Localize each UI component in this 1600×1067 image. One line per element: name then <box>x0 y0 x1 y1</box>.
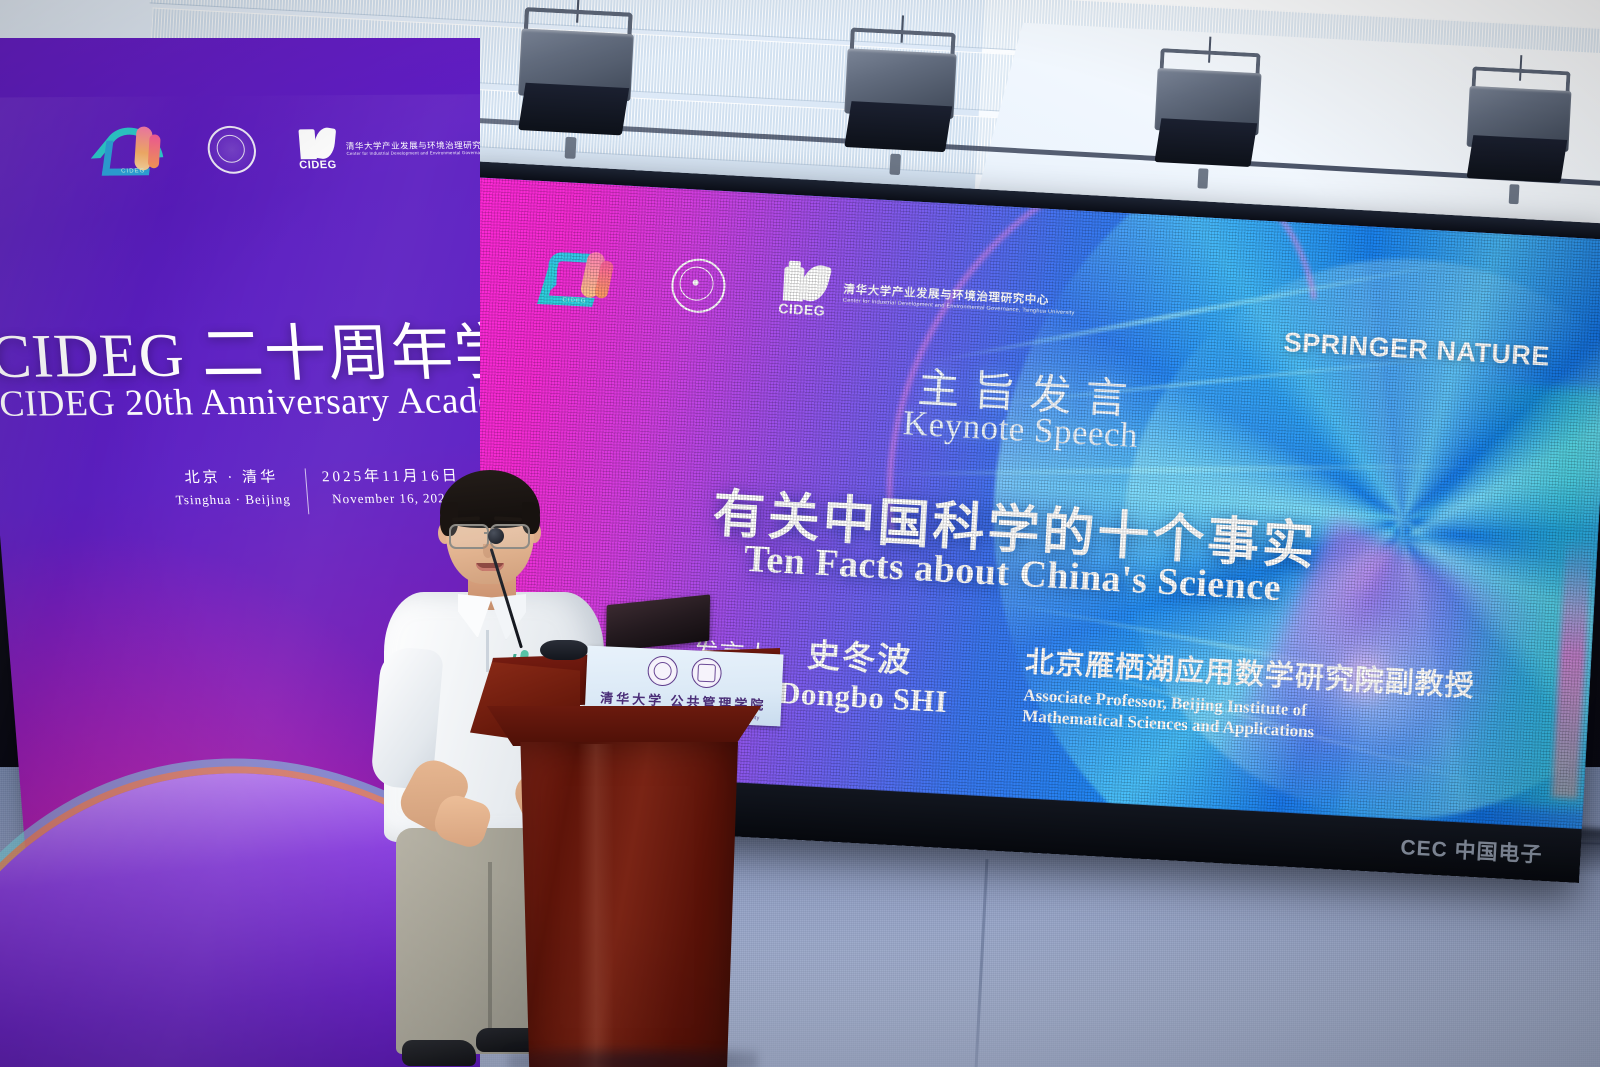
anniversary-20-sublabel: CIDEG <box>562 297 586 304</box>
light-safety-clip <box>1509 184 1520 204</box>
banner-location: 北京 · 清华 Tsinghua · Beijing <box>173 467 291 510</box>
light-lens <box>1467 135 1568 183</box>
cideg-name-en: Center for Industrial Development and En… <box>346 150 480 156</box>
affiliation-block: 北京雁栖湖应用数学研究院副教授 Associate Professor, Bei… <box>1022 638 1476 751</box>
light-safety-clip <box>1197 168 1208 188</box>
lectern: 清华大学 公共管理学院 School of Public Policy & Ma… <box>468 648 780 1067</box>
lectern-floor-shadow <box>508 1048 758 1067</box>
nameplate-seal-row <box>586 653 783 692</box>
anniversary-20-icon: CIDEG <box>97 124 167 176</box>
anniversary-20-icon: CIDEG <box>540 249 617 309</box>
light-lens <box>1154 118 1257 167</box>
banner-logo-row: CIDEG CIDEG 清华大学产业发展与环境治理研究中心 Center for… <box>97 122 480 177</box>
banner-location-cn: 北京 · 清华 <box>173 467 290 490</box>
lectern-column <box>516 742 738 1067</box>
lectern-apron <box>478 706 770 746</box>
anniversary-20-sublabel: CIDEG <box>121 168 146 174</box>
tsinghua-seal-icon <box>670 257 727 314</box>
conference-stage-photo: CIDEG CIDEG 清华大学产业发展与环境治理研究中心 Center for… <box>0 0 1600 1067</box>
cideg-wordmark: CIDEG <box>299 159 337 171</box>
light-safety-clip <box>565 137 577 159</box>
mouth <box>476 563 504 571</box>
sppm-seal-icon <box>691 657 722 688</box>
banner-location-en: Tsinghua · Beijing <box>175 489 291 509</box>
cideg-wordmark: CIDEG <box>778 300 826 319</box>
cideg-logo: CIDEG 清华大学产业发展与环境治理研究中心 Center for Indus… <box>296 126 480 171</box>
light-lens <box>518 83 629 136</box>
cec-wordmark-cn: 中国电子 <box>1454 839 1543 867</box>
microphone-base <box>540 640 588 660</box>
cideg-logo: CIDEG 清华大学产业发展与环境治理研究中心 Center for Indus… <box>780 264 1076 332</box>
light-safety-clip <box>889 154 901 176</box>
microphone-capsule <box>488 528 504 544</box>
banner-meta-divider <box>304 468 309 514</box>
cideg-mark-icon: CIDEG <box>296 127 340 171</box>
nature-word: NATURE <box>1436 335 1551 371</box>
springer-nature-logo: SPRINGER NATURE <box>1283 327 1551 373</box>
cec-brand-logo: CEC 中国电子 <box>1400 831 1544 869</box>
left-shoe <box>402 1040 476 1066</box>
springer-word: SPRINGER <box>1283 327 1429 365</box>
tsinghua-seal-icon <box>647 655 678 686</box>
slide-logo-row: CIDEG CIDEG 清华大学产业发展与环境治理研究中心 Center for… <box>540 249 1076 334</box>
speaker-name-cn: 史冬波 <box>806 628 913 682</box>
cideg-center-name: 清华大学产业发展与环境治理研究中心 Center for Industrial … <box>843 283 1076 316</box>
banner-title-en: CIDEG 20th Anniversary Academic Conferen… <box>0 378 480 426</box>
cec-wordmark: CEC <box>1400 836 1449 862</box>
cideg-mark-icon: CIDEG <box>780 264 835 319</box>
light-lens <box>844 101 952 152</box>
tsinghua-seal-icon <box>206 126 258 174</box>
cideg-center-name: 清华大学产业发展与环境治理研究中心 Center for Industrial … <box>346 140 480 156</box>
lectern-sheen <box>578 744 614 1067</box>
